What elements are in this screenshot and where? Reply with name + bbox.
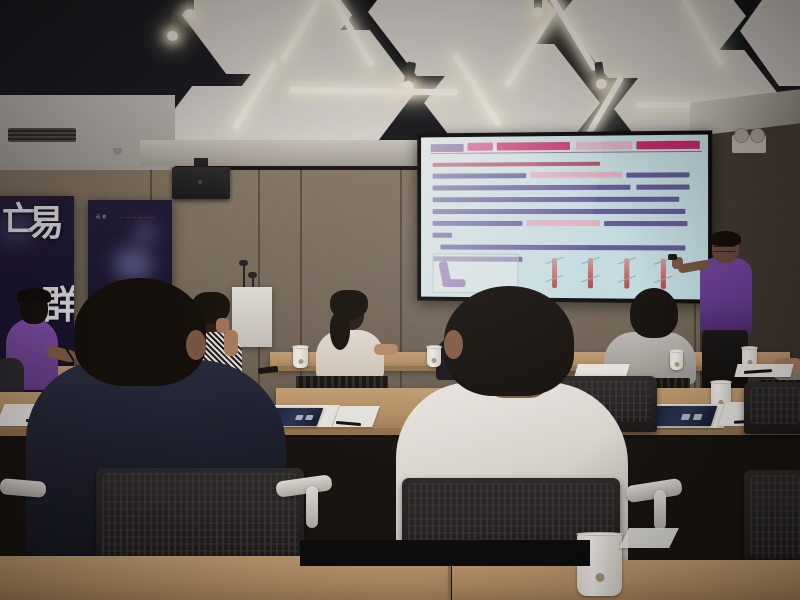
slide-title-segment <box>467 143 492 151</box>
slide-title-segment-highlight <box>497 142 570 151</box>
attendee-head <box>630 288 678 338</box>
attendee-ear <box>186 330 206 360</box>
anatomical-diagram-icon <box>552 258 557 288</box>
presenter-hair <box>710 231 741 246</box>
emergency-light-icon <box>732 135 766 153</box>
slide-figure-hook-icon <box>442 279 465 287</box>
paper-cup <box>670 351 683 370</box>
chair-armrest <box>306 486 318 528</box>
presentation-slide <box>421 135 708 300</box>
attendee-arm <box>224 330 238 356</box>
pendant-spotlight <box>403 61 416 88</box>
attendee-cap <box>17 288 51 303</box>
pendant-spotlight <box>534 0 542 14</box>
slide-body-text <box>421 135 708 138</box>
chair <box>744 382 800 434</box>
chair-armrest <box>654 490 666 530</box>
paper-cup <box>427 347 441 367</box>
speaker-led-icon <box>198 180 202 184</box>
slide-title-segment-redacted <box>576 141 632 150</box>
slide-title-bar <box>431 140 700 154</box>
banner-character: 易 <box>28 196 64 246</box>
glasses-icon <box>713 246 735 252</box>
attendee-torso <box>316 330 384 380</box>
anatomical-diagram-icon <box>588 258 593 288</box>
mic-head-icon <box>239 260 248 266</box>
chair-foreground-far-right <box>744 470 800 568</box>
attendee-ponytail <box>330 312 350 350</box>
slide-title-segment <box>431 144 464 152</box>
seminar-room-photo: 诺·普 — — — — — — ■■■■ ■■■■■ 亡 易 群 <box>0 0 800 600</box>
presenter-torso <box>700 258 752 334</box>
slide-title-underline <box>431 151 702 154</box>
slide-title-segment-highlight <box>636 141 699 150</box>
mic-head-icon <box>248 272 257 278</box>
anatomical-diagram-icon <box>661 259 666 289</box>
remote-clicker <box>668 254 677 260</box>
paper-cup <box>293 347 308 368</box>
air-vent-icon <box>8 128 76 142</box>
projection-screen <box>417 130 712 303</box>
attendee-ear <box>444 330 463 359</box>
attendee-head <box>444 286 574 396</box>
table-front-row-right <box>452 560 800 600</box>
pendant-spotlight <box>186 0 194 16</box>
attendee-arm <box>374 344 398 355</box>
attendee-torso <box>0 358 24 394</box>
lectern <box>232 287 272 347</box>
paper-sheet <box>619 528 679 548</box>
chair-armrest <box>0 478 47 498</box>
attendee-head <box>74 278 206 386</box>
booklet <box>649 406 717 426</box>
dark-floor-gap <box>300 540 590 566</box>
anatomical-diagram-icon <box>624 258 629 288</box>
